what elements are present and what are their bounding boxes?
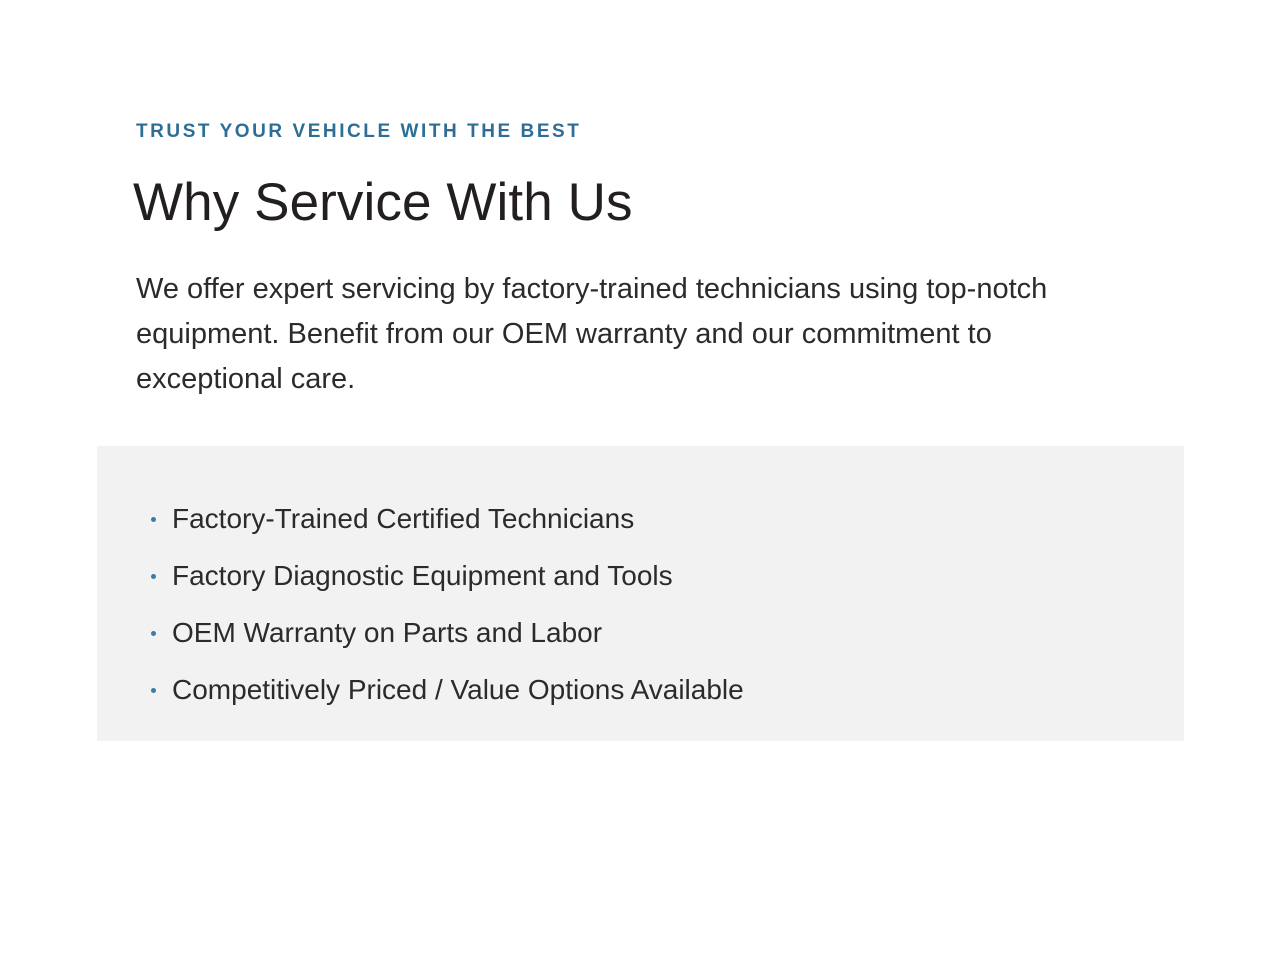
bullet-dot-icon (151, 631, 156, 636)
list-item: Competitively Priced / Value Options Ava… (151, 661, 744, 718)
bullet-dot-icon (151, 517, 156, 522)
section-description: We offer expert servicing by factory-tra… (136, 267, 1116, 402)
list-item-label: Factory-Trained Certified Technicians (172, 502, 634, 536)
list-item: Factory Diagnostic Equipment and Tools (151, 547, 744, 604)
section-eyebrow: TRUST YOUR VEHICLE WITH THE BEST (136, 119, 581, 145)
list-item-label: Factory Diagnostic Equipment and Tools (172, 559, 673, 593)
list-item-label: OEM Warranty on Parts and Labor (172, 616, 602, 650)
bullet-dot-icon (151, 688, 156, 693)
list-item: OEM Warranty on Parts and Labor (151, 604, 744, 661)
list-item: Factory-Trained Certified Technicians (151, 490, 744, 547)
bullet-dot-icon (151, 574, 156, 579)
list-item-label: Competitively Priced / Value Options Ava… (172, 673, 744, 707)
page-title: Why Service With Us (133, 170, 633, 236)
benefits-list: Factory-Trained Certified Technicians Fa… (151, 490, 744, 718)
benefits-panel: Factory-Trained Certified Technicians Fa… (97, 446, 1184, 741)
why-service-with-us-section: TRUST YOUR VEHICLE WITH THE BEST Why Ser… (0, 0, 1280, 960)
